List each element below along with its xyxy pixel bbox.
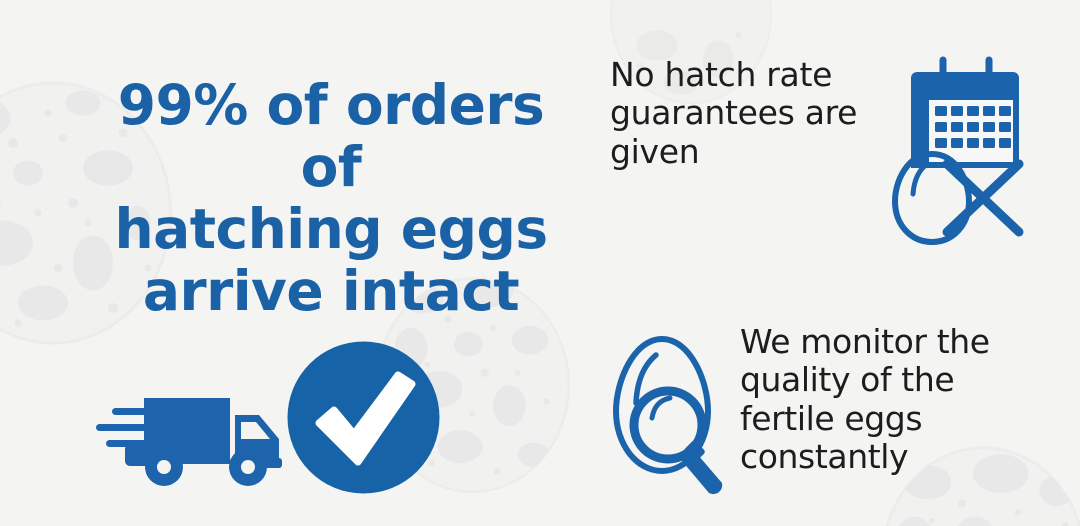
checkmark-circle-icon: [286, 340, 441, 495]
tr-line-3: given: [610, 133, 885, 171]
headline-line-3: arrive intact: [96, 260, 566, 322]
panel-quality-monitoring-text: We monitor the quality of the fertile eg…: [740, 323, 1080, 476]
br-line-1: We monitor the: [740, 323, 1080, 361]
tr-line-2: guarantees are: [610, 94, 885, 132]
tr-line-1: No hatch rate: [610, 56, 885, 94]
calendar-egg-cross-icon: [885, 54, 1035, 249]
panel-no-hatch-rate-guarantee: No hatch rate guarantees are given: [610, 50, 1080, 250]
magnifier-egg-icon: [604, 333, 744, 498]
panel-quality-monitoring: We monitor the quality of the fertile eg…: [598, 315, 1080, 510]
delivery-truck-icon: [96, 382, 286, 492]
headline-line-1: 99% of orders of: [96, 74, 566, 198]
panel-no-hatch-rate-text: No hatch rate guarantees are given: [610, 56, 885, 171]
headline-line-2: hatching eggs: [96, 198, 566, 260]
infographic-canvas: 99% of orders of hatching eggs arrive in…: [0, 0, 1080, 526]
br-line-2: quality of the: [740, 361, 1080, 399]
page-headline: 99% of orders of hatching eggs arrive in…: [96, 74, 566, 323]
br-line-3: fertile eggs constantly: [740, 400, 1080, 477]
